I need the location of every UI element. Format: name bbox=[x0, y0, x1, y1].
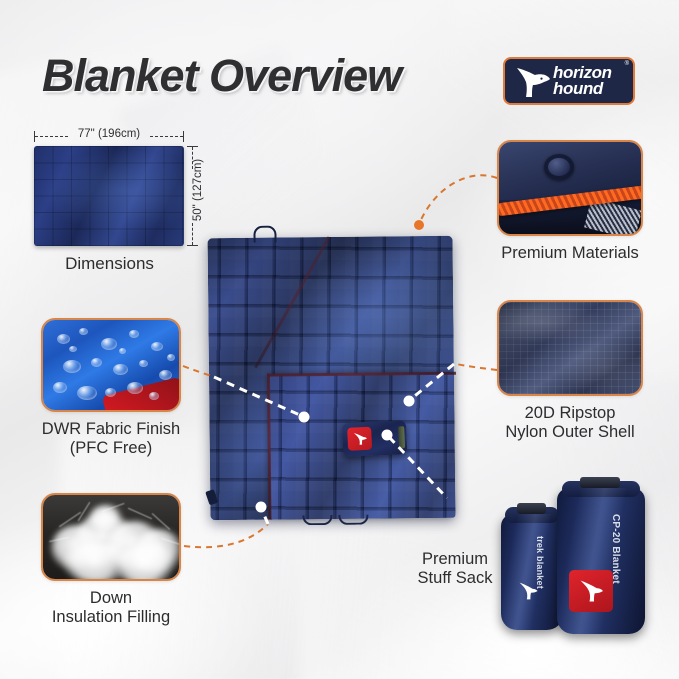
bottom-strap bbox=[302, 515, 332, 525]
height-dimension-line: 50" (127cm) bbox=[186, 146, 198, 246]
width-dimension-line: 77" (196cm) bbox=[34, 130, 184, 142]
page-title: Blanket Overview bbox=[42, 50, 401, 102]
sack-closure bbox=[398, 426, 405, 448]
down-thumbnail bbox=[41, 493, 181, 581]
hang-loop-icon bbox=[253, 226, 276, 243]
header: Blanket Overview horizon hound ® bbox=[0, 24, 679, 90]
buckle-icon bbox=[580, 477, 620, 488]
ripstop-caption: 20D Ripstop Nylon Outer Shell bbox=[485, 404, 655, 442]
down-caption: Down Insulation Filling bbox=[11, 589, 211, 627]
infographic-page: Blanket Overview horizon hound ® 77" (19… bbox=[0, 0, 679, 679]
premium-materials-caption: Premium Materials bbox=[485, 244, 655, 263]
registered-mark: ® bbox=[625, 61, 629, 67]
blanket-top-view-image bbox=[34, 146, 184, 246]
logo-wordmark: horizon hound bbox=[553, 65, 612, 98]
bottom-strap bbox=[338, 515, 368, 525]
premium-materials-thumbnail bbox=[497, 140, 643, 236]
red-logo-patch bbox=[347, 427, 372, 451]
grommet-icon bbox=[544, 154, 574, 180]
logo-line-2: hound bbox=[553, 81, 612, 97]
dwr-thumbnail bbox=[41, 318, 181, 412]
buckle-icon bbox=[517, 503, 546, 514]
center-product-blanket bbox=[208, 236, 456, 521]
dog-head-icon bbox=[511, 62, 553, 104]
width-label: 77" (196cm) bbox=[68, 128, 150, 140]
connector-down-outer bbox=[184, 524, 268, 547]
feature-card-stuff-sack: trek blanket CP-20 Blanket Premium Stuff… bbox=[495, 470, 675, 640]
mini-stuff-sack bbox=[342, 420, 407, 457]
feature-card-ripstop-shell: 20D Ripstop Nylon Outer Shell bbox=[497, 300, 643, 396]
height-label: 50" (127cm) bbox=[192, 147, 204, 233]
dwr-caption: DWR Fabric Finish (PFC Free) bbox=[11, 420, 211, 458]
feature-card-premium-materials: Premium Materials bbox=[497, 140, 643, 236]
connector-endpoint-materials bbox=[414, 220, 424, 230]
dimensions-caption: Dimensions bbox=[12, 254, 207, 274]
stuff-sack-large: CP-20 Blanket bbox=[557, 488, 645, 634]
feature-card-dwr-finish: DWR Fabric Finish (PFC Free) bbox=[41, 318, 181, 412]
sack-large-logo bbox=[569, 570, 613, 612]
brand-logo: horizon hound ® bbox=[503, 57, 635, 105]
feature-card-down-insulation: Down Insulation Filling bbox=[41, 493, 181, 581]
connector-premium-materials bbox=[420, 175, 497, 222]
ripstop-thumbnail bbox=[497, 300, 643, 396]
connector-ripstop-outer bbox=[456, 364, 497, 370]
stuff-sack-caption: Premium Stuff Sack bbox=[365, 550, 545, 588]
